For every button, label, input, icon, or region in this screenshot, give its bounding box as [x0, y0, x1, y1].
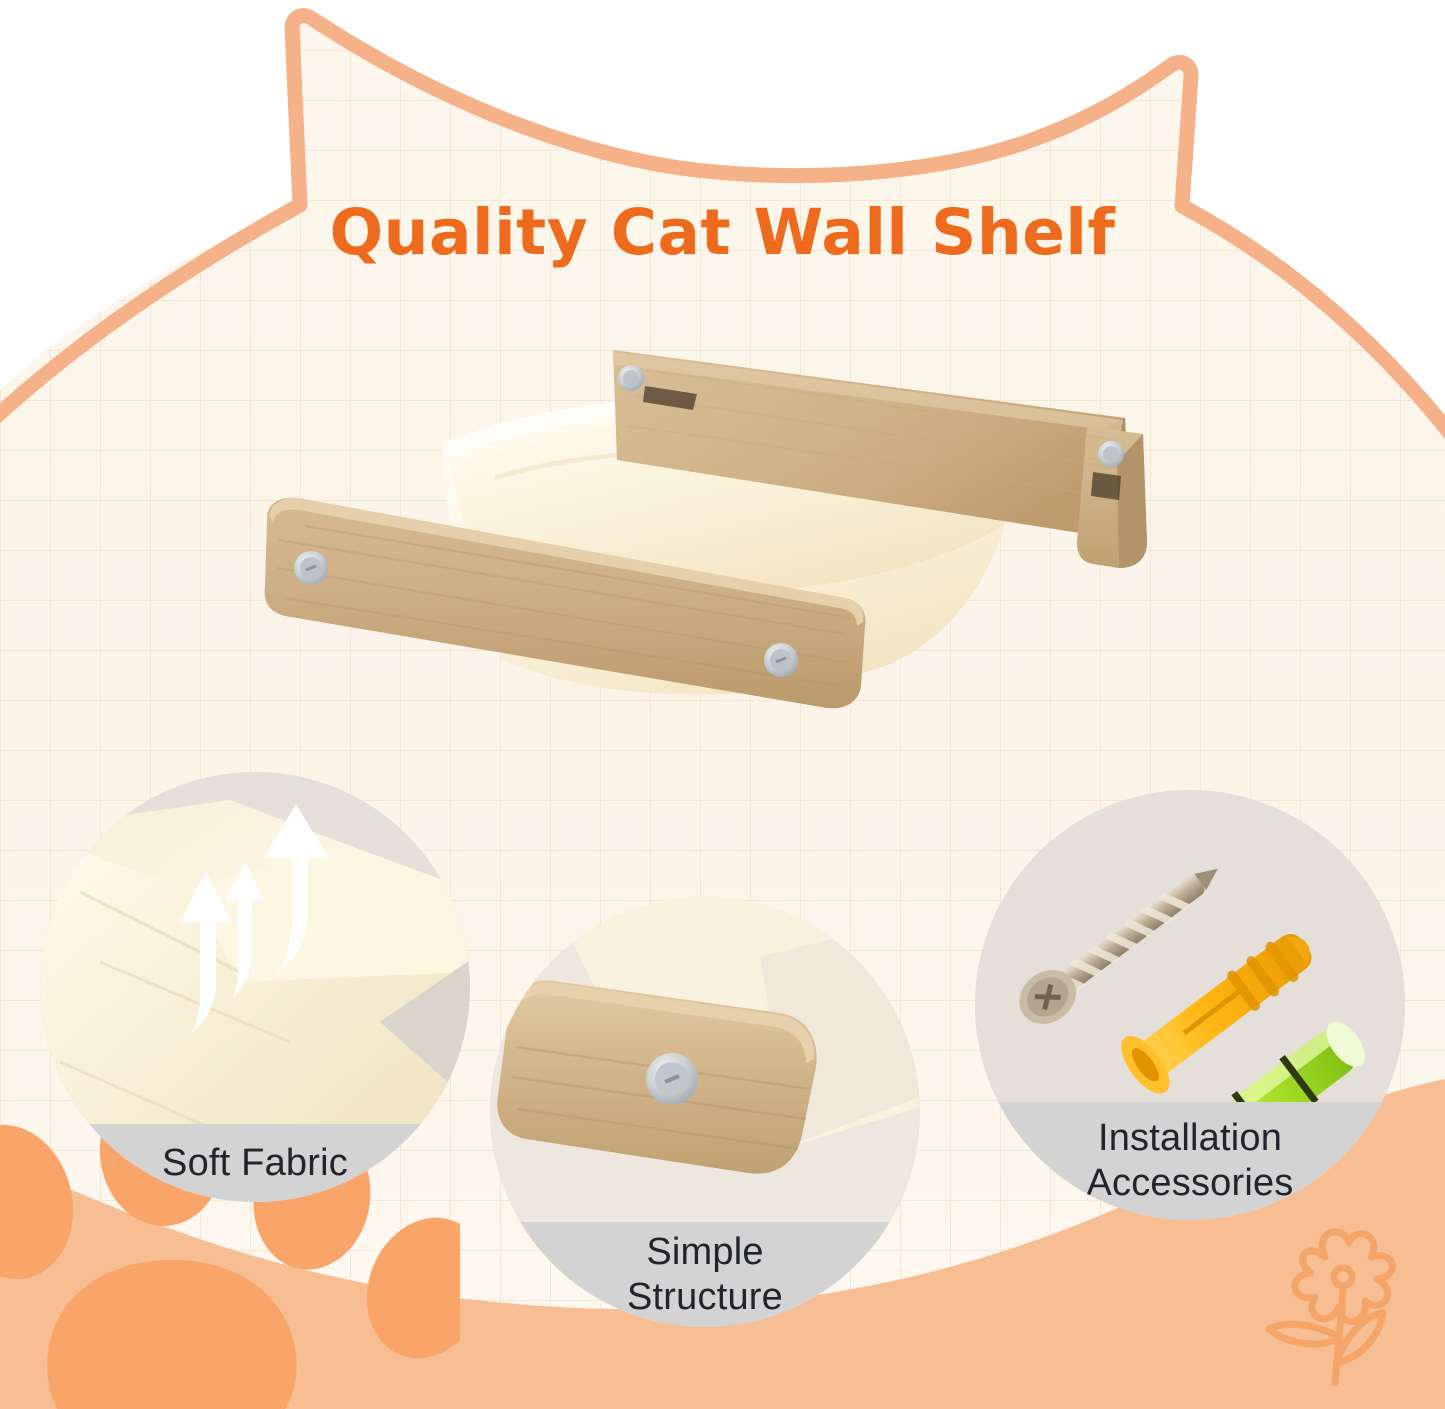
feature-label-installation-accessories: Installation Accessories: [1076, 1116, 1303, 1206]
feature-label-band-installation-accessories: Installation Accessories: [975, 1102, 1405, 1220]
infographic-canvas: Quality Cat Wall Shelf: [0, 0, 1445, 1409]
feature-label-soft-fabric: Soft Fabric: [152, 1141, 358, 1186]
hero-product-image: [245, 330, 1195, 730]
feature-label-simple-structure: Simple Structure: [617, 1230, 793, 1320]
feature-label-band-soft-fabric: Soft Fabric: [40, 1124, 470, 1202]
feature-card-simple-structure: Simple Structure: [490, 897, 920, 1327]
page-title: Quality Cat Wall Shelf: [0, 200, 1445, 266]
feature-card-installation-accessories: Installation Accessories: [975, 790, 1405, 1220]
feature-label-band-simple-structure: Simple Structure: [490, 1222, 920, 1327]
feature-card-soft-fabric: Soft Fabric: [40, 772, 470, 1202]
flower-doodle-icon: [1255, 1215, 1425, 1400]
